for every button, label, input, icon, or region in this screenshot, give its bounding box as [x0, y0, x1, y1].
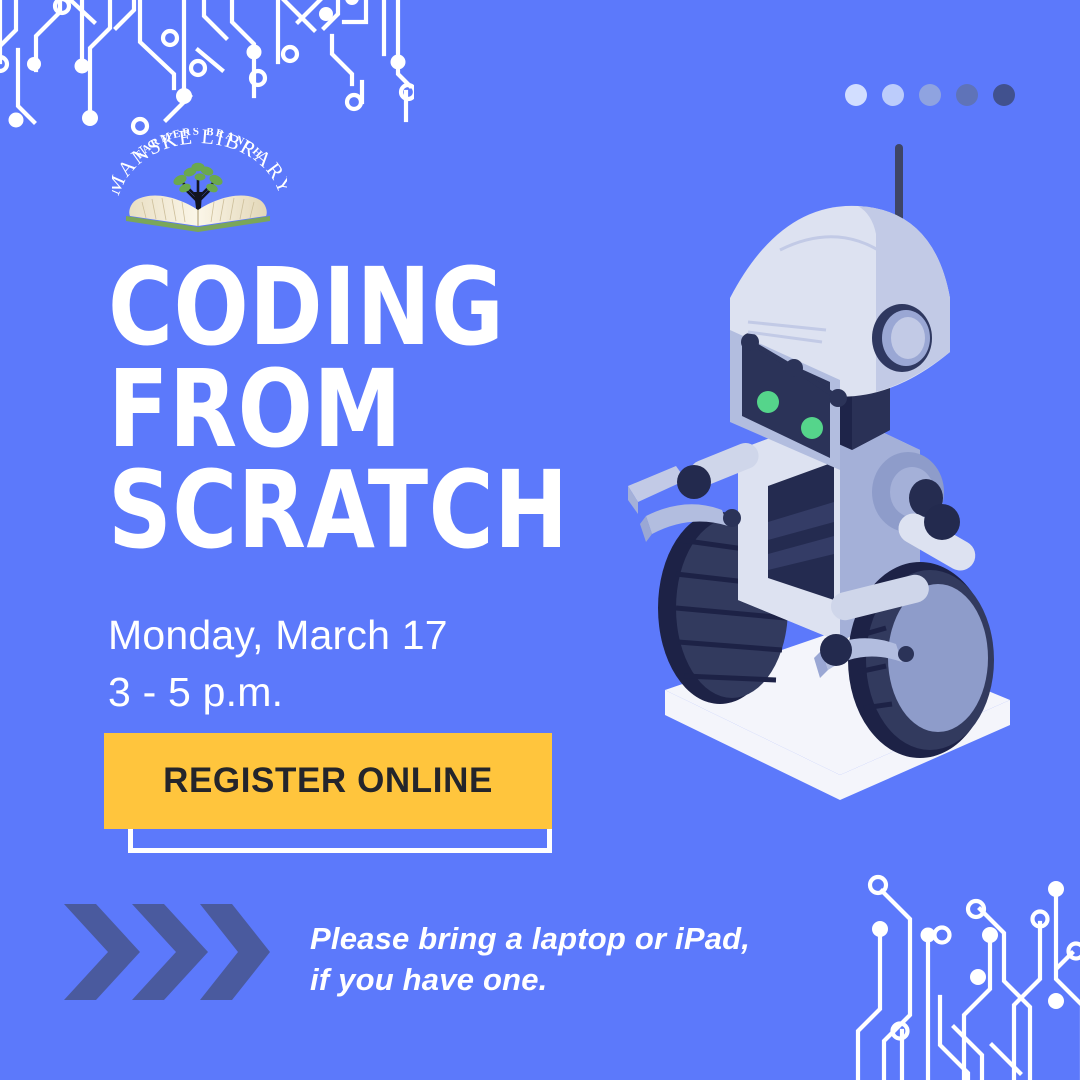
register-online-button[interactable]: REGISTER ONLINE [104, 733, 552, 829]
dot-4 [956, 84, 978, 106]
register-online-label: REGISTER ONLINE [163, 761, 493, 801]
dot-row [845, 84, 1015, 106]
poster-canvas: FARMERS BRANCH MANSKE LIBRARY [0, 0, 1080, 1080]
circuit-bottom-right-icon [844, 859, 1080, 1080]
title-line-2: SCRATCH [108, 461, 660, 563]
footer-note-line-2: if you have one. [310, 959, 830, 1000]
robot-illustration [590, 130, 1040, 830]
footer-note-line-1: Please bring a laptop or iPad, [310, 918, 830, 959]
dot-2 [882, 84, 904, 106]
triple-chevron-right-icon [62, 898, 272, 1006]
dot-1 [845, 84, 867, 106]
page-title: CODING FROM SCRATCH [108, 258, 660, 563]
footer-note: Please bring a laptop or iPad, if you ha… [310, 918, 830, 1000]
register-cta: REGISTER ONLINE [104, 733, 574, 863]
robot-head [730, 206, 950, 470]
dot-5 [993, 84, 1015, 106]
circuit-top-left-icon [0, 0, 414, 142]
title-line-1: CODING FROM [108, 258, 660, 461]
dot-3 [919, 84, 941, 106]
library-logo: FARMERS BRANCH MANSKE LIBRARY [112, 128, 287, 238]
